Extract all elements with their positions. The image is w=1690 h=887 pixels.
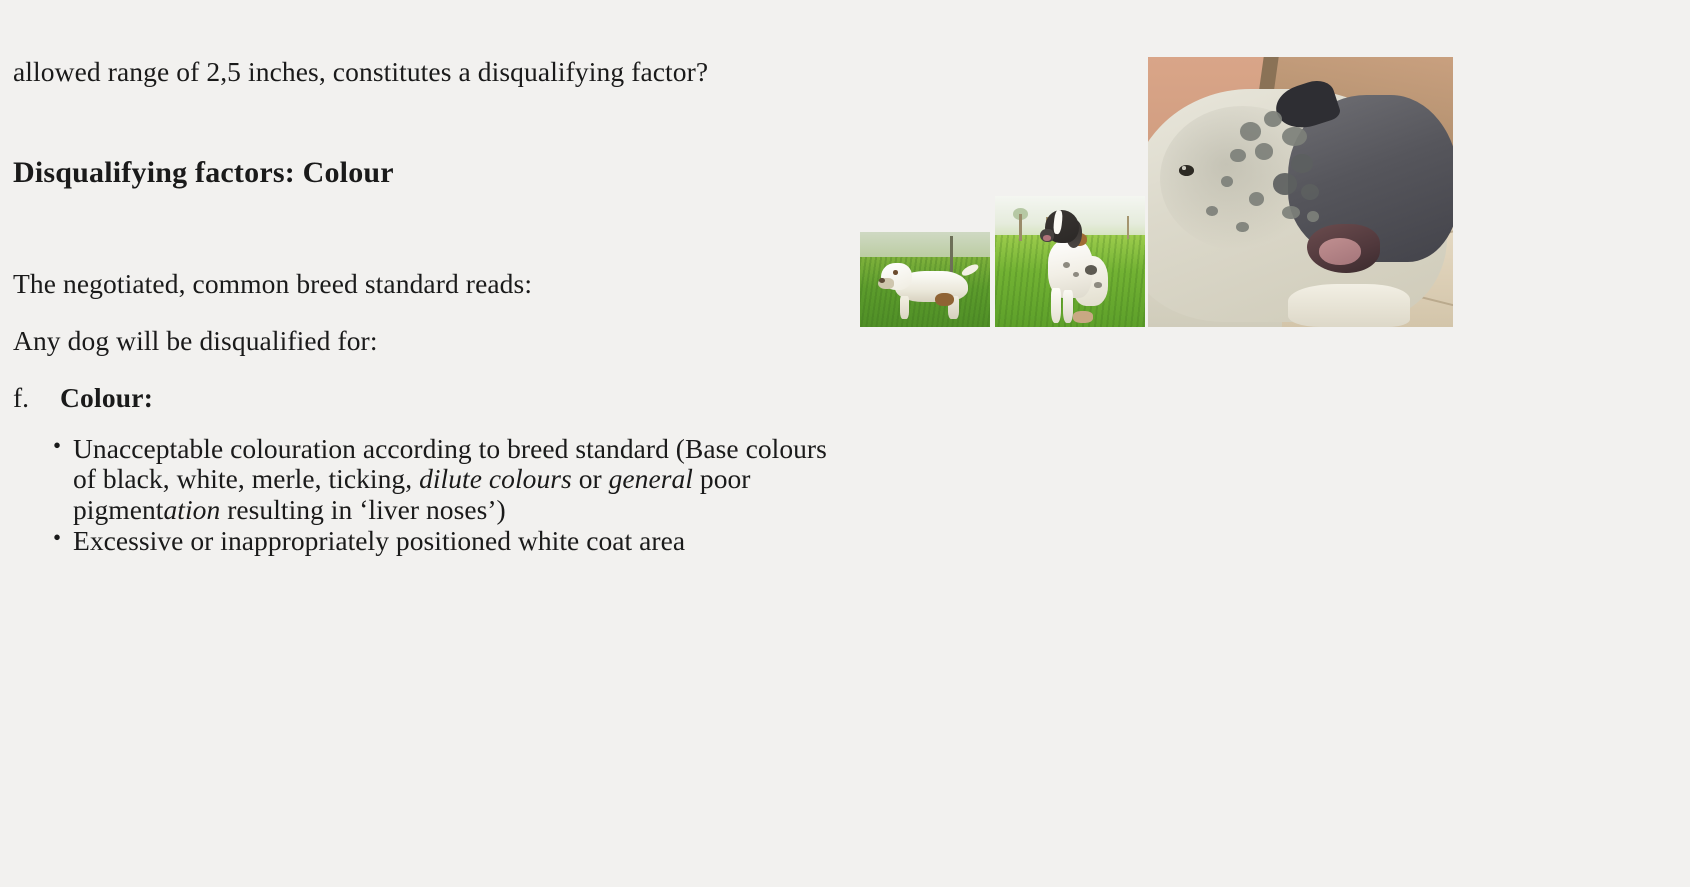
photo2-dog-coat-spot bbox=[1094, 282, 1102, 287]
photo1-fence-post bbox=[950, 236, 953, 280]
photo2-dog-coat-spot bbox=[1063, 262, 1071, 269]
lead-question-line: allowed range of 2,5 inches, constitutes… bbox=[13, 0, 843, 89]
lettered-item-marker: f. bbox=[13, 381, 60, 415]
photo1-dog-tail bbox=[961, 262, 981, 277]
list-item: Unacceptable colouration according to br… bbox=[13, 434, 843, 526]
photo3-coat-ticking-spot bbox=[1273, 173, 1297, 195]
photo2-dog-second-leg bbox=[1063, 290, 1074, 323]
photo3-dog-chin bbox=[1288, 284, 1410, 327]
photo2-dog-hindquarters bbox=[1073, 256, 1108, 306]
photo2-dog-front-leg bbox=[1051, 288, 1062, 323]
photo1-dog-coat-patch bbox=[935, 293, 953, 306]
photo3-tiled-floor bbox=[1148, 206, 1453, 328]
photo1-dog-nose bbox=[879, 278, 886, 284]
photo2-fence-post-middle bbox=[1046, 217, 1048, 239]
photo1-sky bbox=[860, 232, 990, 261]
photo1-dog-eye bbox=[893, 270, 898, 275]
list-item: Excessive or inappropriately positioned … bbox=[13, 526, 843, 557]
photo3-tile-seam bbox=[1339, 275, 1453, 315]
dog-photo-sitting-black-headed-dog bbox=[995, 196, 1145, 327]
photo3-coat-ticking-spot bbox=[1249, 192, 1264, 206]
photo2-tree bbox=[1013, 208, 1028, 220]
photo2-dog-ear bbox=[1066, 220, 1083, 249]
photo3-tile-seam bbox=[1310, 221, 1453, 273]
photo3-coat-ticking-spot bbox=[1206, 206, 1218, 217]
photo3-dog-skull-shading bbox=[1160, 106, 1325, 252]
photo3-dog-tongue bbox=[1319, 238, 1362, 265]
photo3-coat-ticking-spot bbox=[1240, 122, 1261, 141]
photo3-wall-right bbox=[1270, 57, 1453, 224]
document-text-column: allowed range of 2,5 inches, constitutes… bbox=[13, 0, 843, 557]
photo1-dog-muzzle bbox=[878, 278, 894, 289]
dog-photo-head-closeup-ticked-coat bbox=[1148, 57, 1453, 327]
photo3-wall-left bbox=[1148, 57, 1288, 197]
photo3-dog-eye bbox=[1179, 165, 1194, 176]
photo2-grass bbox=[995, 235, 1145, 327]
dog-photo-standing-white-dog bbox=[860, 232, 990, 327]
photo1-grass bbox=[860, 257, 990, 327]
lettered-item-label: Colour: bbox=[60, 381, 153, 415]
photo1-dog-front-leg bbox=[900, 296, 909, 320]
photo2-dog-face-blaze bbox=[1052, 210, 1062, 234]
photo2-dog-head bbox=[1045, 210, 1080, 243]
photo3-dog-mask-edge bbox=[1271, 76, 1342, 136]
photo1-dog-body bbox=[895, 271, 968, 302]
section-heading: Disqualifying factors: Colour bbox=[13, 89, 843, 190]
colour-disqualification-bullet-list: Unacceptable colouration according to br… bbox=[13, 416, 843, 557]
photo2-fence-post-right bbox=[1127, 216, 1129, 240]
photo3-door-jamb bbox=[1252, 57, 1279, 138]
paragraph-any-dog-disqualified: Any dog will be disqualified for: bbox=[13, 302, 843, 358]
document-page: allowed range of 2,5 inches, constitutes… bbox=[0, 0, 1690, 887]
photo3-dog-neck bbox=[1148, 224, 1282, 327]
photo2-dog-brown-patch bbox=[1070, 233, 1087, 246]
photo2-dog-coat-spot bbox=[1073, 272, 1079, 277]
photo2-dog-coat-spot bbox=[1085, 265, 1097, 274]
photo3-dog-dark-mask bbox=[1288, 95, 1453, 262]
photo3-dog-eye-highlight bbox=[1182, 166, 1187, 170]
photo2-dog-muzzle bbox=[1040, 229, 1054, 242]
photo2-dog-body bbox=[1048, 239, 1093, 298]
photo3-coat-ticking-spot bbox=[1301, 184, 1319, 200]
photo3-dog-head bbox=[1148, 89, 1447, 321]
photo3-coat-ticking-spot bbox=[1282, 206, 1300, 220]
photo3-coat-ticking-spot bbox=[1221, 176, 1233, 187]
photo3-coat-ticking-spot bbox=[1230, 149, 1245, 163]
photo2-dog-tongue bbox=[1043, 235, 1051, 240]
lettered-item-f: f. Colour: bbox=[13, 358, 843, 415]
photo3-coat-ticking-spot bbox=[1236, 222, 1248, 233]
photo1-dog-head bbox=[881, 263, 912, 290]
photo3-dog-mouth bbox=[1307, 224, 1380, 273]
photo3-coat-ticking-spot bbox=[1264, 111, 1282, 127]
photo3-coat-ticking-spot bbox=[1282, 127, 1306, 146]
photo1-dog-hind-leg bbox=[948, 296, 958, 320]
paragraph-breed-standard-reads: The negotiated, common breed standard re… bbox=[13, 190, 843, 301]
photo3-coat-ticking-spot bbox=[1291, 154, 1312, 173]
photo2-dog-rear-foot bbox=[1073, 311, 1093, 323]
photo3-coat-ticking-spot bbox=[1255, 143, 1273, 159]
photo2-sky bbox=[995, 196, 1145, 241]
photo2-fence-post-left bbox=[1019, 214, 1022, 240]
photo3-coat-ticking-spot bbox=[1307, 211, 1319, 222]
